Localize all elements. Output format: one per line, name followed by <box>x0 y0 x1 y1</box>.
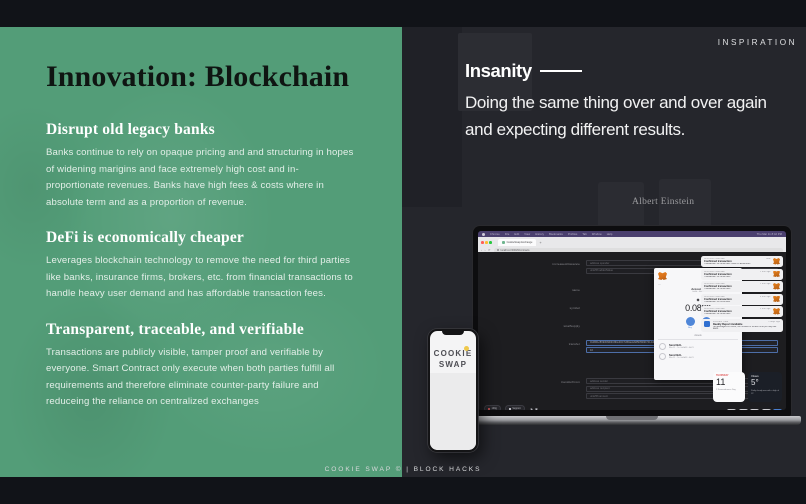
notification-item[interactable]: GOOGLE CHROME 4 min ago Confirmed transa… <box>701 294 783 305</box>
menu-item-profiles[interactable]: Profiles <box>568 233 577 236</box>
quote-lead-word: Insanity <box>465 60 532 82</box>
screen-time-icon <box>704 321 710 327</box>
footer-text: COOKIE SWAP © | BLOCK HACKS <box>325 466 482 473</box>
metamask-fox-icon <box>773 296 780 303</box>
menu-item-file[interactable]: File <box>505 233 510 236</box>
dock-app-icon[interactable] <box>739 409 748 410</box>
browser-tab[interactable]: CookieSwap Exchange <box>498 239 536 246</box>
menu-item-help[interactable]: Help <box>607 233 613 236</box>
brand-line-1: COOKIE <box>434 349 473 358</box>
notification-center: GOOGLE CHROME now Confirmed transaction … <box>701 256 783 332</box>
block-body: Transactions are publicly visible, tampe… <box>46 345 356 411</box>
wallet-transaction-row[interactable]: Send BAL Mar 11 · To: 0x8d93...4b21 <box>658 340 738 350</box>
field-label: transfer <box>478 340 586 346</box>
phone-content-sheet <box>430 373 476 450</box>
notification-time: 1 min ago <box>760 271 770 273</box>
content-block-3: Transparent, traceable, and verifiable T… <box>46 321 359 411</box>
wallet-menu-icon[interactable]: ⋯ <box>658 283 660 286</box>
metamask-fox-icon <box>658 272 667 280</box>
block-heading: DeFi is economically cheaper <box>46 229 359 247</box>
block-body: Leverages blockchain technology to remov… <box>46 253 356 303</box>
slide-canvas: Innovation: Blockchain Disrupt old legac… <box>0 0 806 504</box>
gas-indicator-icon <box>488 408 490 410</box>
notification-time: 5 min ago <box>760 308 770 310</box>
menu-item-bookmarks[interactable]: Bookmarks <box>549 233 563 236</box>
notification-item[interactable]: GOOGLE CHROME now Confirmed transaction … <box>701 256 783 267</box>
green-content-panel: Innovation: Blockchain Disrupt old legac… <box>0 27 402 477</box>
page-title: Innovation: Blockchain <box>46 60 359 93</box>
lock-icon <box>497 249 499 251</box>
weather-condition: Partly cloudy now with a high of 12° <box>751 390 779 396</box>
play-icon[interactable]: ▶ <box>531 407 533 411</box>
notification-time: 1 min ago <box>760 283 770 285</box>
em-dash-rule <box>540 70 582 73</box>
apple-icon <box>482 233 485 236</box>
dock-app-icon[interactable] <box>727 409 736 410</box>
notification-item[interactable]: GOOGLE CHROME 1 min ago Confirmed transa… <box>701 281 783 292</box>
menu-item-chrome[interactable]: Chrome <box>490 233 500 236</box>
support-icon <box>509 408 511 410</box>
notification-sub: Transaction 14 confirmed! View on Ethers… <box>704 263 771 265</box>
quote-block: Insanity Doing the same thing over and o… <box>465 60 795 143</box>
slide-footer: COOKIE SWAP © | BLOCK HACKS <box>0 461 806 477</box>
laptop-base-notch <box>606 416 658 420</box>
laptop-screen: Chrome File Edit View History Bookmarks … <box>478 231 786 410</box>
laptop-base <box>463 416 801 425</box>
new-tab-button[interactable]: + <box>539 241 541 245</box>
calendar-widget[interactable]: THURSDAY 11 2 Remembrance Day <box>713 372 745 402</box>
dock-app-icon[interactable] <box>762 409 771 410</box>
gas-chip[interactable]: 100g <box>484 405 501 410</box>
favicon-icon <box>502 241 505 244</box>
window-controls[interactable] <box>481 241 492 244</box>
dock-app-icon[interactable] <box>750 409 759 410</box>
content-block-1: Disrupt old legacy banks Banks continue … <box>46 121 359 211</box>
notification-item[interactable]: SCREEN TIME 2 days ago Weekly Report Ava… <box>701 319 783 332</box>
panel-toggle-icon[interactable]: ▣ <box>535 407 538 411</box>
brand-line-2: SWAP <box>430 360 476 369</box>
calendar-event: 2 Remembrance Day <box>716 389 742 391</box>
field-label: name <box>478 286 586 292</box>
notification-time: now <box>766 258 770 260</box>
notification-sub: Transaction 13 confirmed! <box>704 276 771 278</box>
metamask-fox-icon <box>773 308 780 315</box>
weather-temp: 5° <box>751 379 779 387</box>
decor-shade-left <box>402 27 462 207</box>
transaction-sub: Mar 11 · To: 0x8d93...4b21 <box>669 357 737 359</box>
notification-time: 2 days ago <box>768 321 780 323</box>
buy-icon <box>686 317 695 326</box>
weather-widget[interactable]: Ottawa 5° Partly cloudy now with a high … <box>748 372 782 402</box>
macos-dock[interactable] <box>727 409 782 410</box>
quote-text: Doing the same thing over and over again… <box>465 90 795 143</box>
field-label: transferFrom <box>478 378 586 384</box>
laptop-lid: Chrome File Edit View History Bookmarks … <box>473 226 791 416</box>
menu-item-history[interactable]: History <box>535 233 544 236</box>
browser-chrome: CookieSwap Exchange + ‹ › ⟳ <box>478 237 786 252</box>
metamask-fox-icon <box>773 258 780 265</box>
browser-tab-label: CookieSwap Exchange <box>507 241 533 244</box>
menu-item-tab[interactable]: Tab <box>582 233 586 236</box>
transaction-status-icon <box>659 353 666 360</box>
eyebrow-label: INSPIRATION <box>718 38 797 47</box>
menu-item-edit[interactable]: Edit <box>514 233 519 236</box>
menu-item-window[interactable]: Window <box>592 233 602 236</box>
metamask-fox-icon <box>773 271 780 278</box>
buy-label: Buy <box>688 327 692 329</box>
notification-item[interactable]: GOOGLE CHROME 1 min ago Confirmed transa… <box>701 269 783 280</box>
phone-notch <box>442 331 464 335</box>
field-label: totalSupply <box>478 322 586 328</box>
transaction-sub: Mar 11 · To: 0x8d93...4b21 <box>669 347 737 349</box>
content-block-2: DeFi is economically cheaper Leverages b… <box>46 229 359 303</box>
block-body: Banks continue to rely on opaque pricing… <box>46 145 356 211</box>
desktop-widgets: THURSDAY 11 2 Remembrance Day Ottawa 5° … <box>713 372 782 402</box>
notification-sub: Transaction 11 confirmed! <box>704 301 771 303</box>
calendar-day: 11 <box>716 378 742 387</box>
block-heading: Transparent, traceable, and verifiable <box>46 321 359 339</box>
gas-chip-label: 100g <box>492 407 497 410</box>
metamask-fox-icon <box>773 283 780 290</box>
quote-attribution: Albert Einstein <box>632 197 694 207</box>
transaction-status-icon <box>659 343 666 350</box>
phone-screen: COOKIE SWAP DECENTRALIZED EXCHANGE <box>430 331 476 450</box>
notification-time: 4 min ago <box>760 296 770 298</box>
menu-item-view[interactable]: View <box>524 233 530 236</box>
dapp-page: increaseAllowance address spender uint25… <box>478 252 786 410</box>
block-heading: Disrupt old legacy banks <box>46 121 359 139</box>
wallet-transaction-row[interactable]: Send BAL Mar 11 · To: 0x8d93...4b21 <box>658 350 738 360</box>
support-chip[interactable]: Support <box>505 405 525 410</box>
dock-app-icon[interactable] <box>773 409 782 410</box>
buy-button[interactable]: Buy <box>686 317 695 329</box>
notification-sub: You averaged 12 hours, 28 minutes of scr… <box>713 326 781 330</box>
menubar-clock[interactable]: Thu Mar 11 8:42 PM <box>757 233 782 236</box>
support-chip-label: Support <box>512 407 520 410</box>
laptop-mockup: Chrome File Edit View History Bookmarks … <box>473 226 791 434</box>
notification-sub: Transaction 12 confirmed! <box>704 288 771 290</box>
notification-item[interactable]: GOOGLE CHROME 5 min ago Confirmed transa… <box>701 306 783 317</box>
notification-sub: Transaction 10 confirmed! <box>704 313 771 315</box>
field-label: increaseAllowance <box>478 260 586 266</box>
phone-body: COOKIE SWAP DECENTRALIZED EXCHANGE <box>428 329 478 452</box>
field-label: symbol <box>478 304 586 310</box>
phone-mockup: COOKIE SWAP DECENTRALIZED EXCHANGE <box>428 329 478 452</box>
